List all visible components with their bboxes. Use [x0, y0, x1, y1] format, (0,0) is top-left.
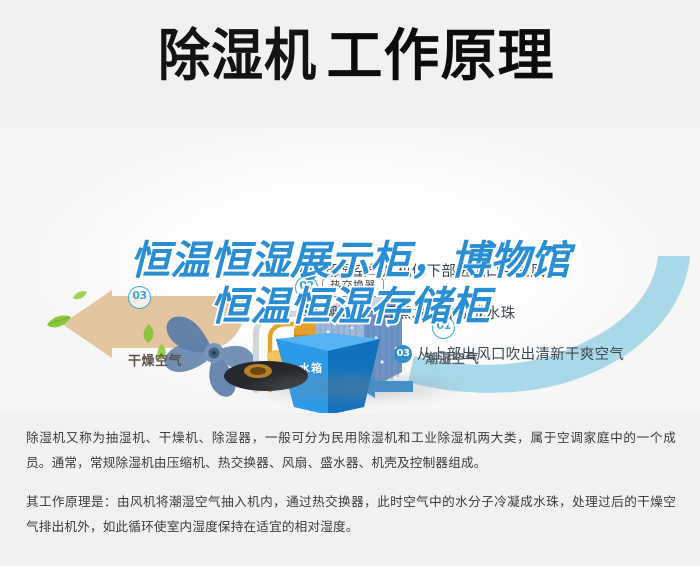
step-badge-02: 02: [300, 304, 318, 322]
step-badge-03: 03: [394, 345, 412, 363]
page-title: 除湿机工作原理: [0, 26, 700, 88]
step-item-02: 02 潮湿空气经蒸发器冷凝成水珠: [300, 302, 515, 323]
step-text-03: 从上部出风口吹出清新干爽空气: [417, 343, 624, 364]
page-root: 除湿机工作原理: [0, 0, 700, 566]
paragraph-2: 其工作原理是：由风机将潮湿空气抽入机内，通过热交换器，此时空气中的水分子冷凝成水…: [26, 489, 676, 539]
body-copy: 除湿机又称为抽湿机、干燥机、除湿器，一般可分为民用除湿机和工业除湿机两大类，属于…: [0, 413, 700, 566]
step-list: 01 潮湿空气从机体下部进风口中进风 02 潮湿空气经蒸发器冷凝成水珠 03 从…: [0, 128, 700, 413]
step-item-01: 01 潮湿空气从机体下部进风口中进风: [300, 260, 545, 281]
diagram-stage: 水箱 01 02 03 热交换器 干燥空气 潮湿空气 01 潮湿空气从机体下部进…: [0, 128, 700, 413]
step-text-01: 潮湿空气从机体下部进风口中进风: [323, 260, 545, 281]
step-badge-01: 01: [300, 262, 318, 280]
title-part-a: 除湿机: [157, 26, 316, 88]
title-part-b: 工作原理: [327, 26, 555, 88]
title-band: 除湿机工作原理: [0, 0, 700, 128]
step-text-02: 潮湿空气经蒸发器冷凝成水珠: [323, 302, 515, 323]
paragraph-1: 除湿机又称为抽湿机、干燥机、除湿器，一般可分为民用除湿机和工业除湿机两大类，属于…: [26, 425, 676, 475]
step-item-03: 03 从上部出风口吹出清新干爽空气: [394, 343, 624, 364]
